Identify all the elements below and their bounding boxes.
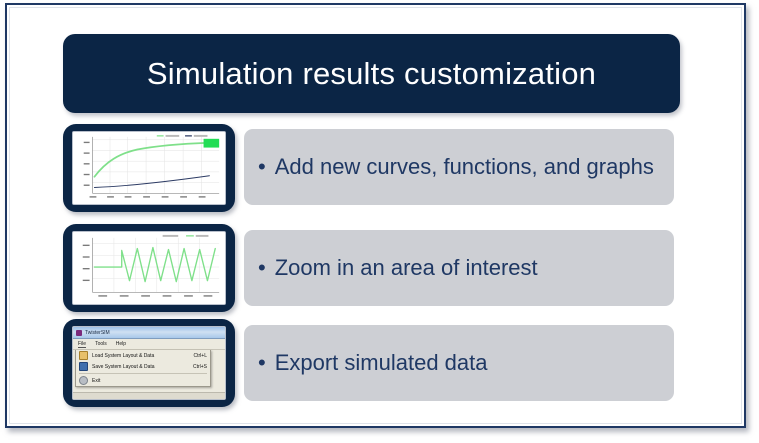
app-menubar: File Tools Help [73, 339, 225, 350]
menu-item-label: Load System Layout & Data [92, 353, 190, 359]
slide-frame: Simulation results customization [5, 3, 746, 428]
selection-highlight [204, 139, 220, 148]
bullet-marker-icon: • [258, 352, 266, 374]
curves-chart-thumbnail[interactable] [63, 124, 235, 212]
bullet-marker-icon: • [258, 156, 266, 178]
app-statusbar [73, 392, 225, 399]
line-chart-1 [73, 132, 225, 204]
menu-tools[interactable]: Tools [95, 341, 107, 347]
file-menu-dropdown: Load System Layout & Data Ctrl+L Save Sy… [75, 350, 211, 387]
menu-item-label: Exit [92, 378, 203, 384]
export-menu-thumbnail[interactable]: TwisterSIM File Tools Help Load System L… [63, 319, 235, 407]
menu-file[interactable]: File [78, 341, 86, 347]
title-banner: Simulation results customization [63, 34, 680, 113]
menu-separator [79, 373, 207, 374]
menu-item-label: Save System Layout & Data [92, 364, 189, 370]
bullet-text-2: Zoom in an area of interest [275, 255, 538, 281]
twistersim-window: TwisterSIM File Tools Help Load System L… [73, 327, 225, 399]
menu-help[interactable]: Help [116, 341, 126, 347]
chart-canvas-1 [72, 131, 226, 205]
bullet-marker-icon: • [258, 257, 266, 279]
zoom-chart-thumbnail[interactable] [63, 224, 235, 312]
bullet-band-2: • Zoom in an area of interest [244, 230, 674, 306]
floppy-disk-icon [79, 362, 88, 371]
app-window-title: TwisterSIM [85, 330, 110, 336]
bullet-text-3: Export simulated data [275, 350, 488, 376]
menu-item-load-system-layout[interactable]: Load System Layout & Data Ctrl+L [76, 350, 210, 361]
page-title: Simulation results customization [147, 56, 596, 92]
bullet-band-3: • Export simulated data [244, 325, 674, 401]
line-chart-2 [73, 232, 225, 304]
bullet-text-1: Add new curves, functions, and graphs [275, 154, 654, 180]
folder-open-icon [79, 351, 88, 360]
bullet-band-1: • Add new curves, functions, and graphs [244, 129, 674, 205]
menu-item-accel: Ctrl+S [193, 364, 207, 370]
menu-item-save-system-layout[interactable]: Save System Layout & Data Ctrl+S [76, 361, 210, 372]
app-titlebar: TwisterSIM [73, 327, 225, 339]
chart-canvas-2 [72, 231, 226, 305]
menu-item-accel: Ctrl+L [194, 353, 207, 359]
app-window-screenshot: TwisterSIM File Tools Help Load System L… [72, 326, 226, 400]
exit-icon [79, 376, 88, 385]
menu-item-exit[interactable]: Exit [76, 375, 210, 386]
app-logo-icon [76, 330, 82, 336]
